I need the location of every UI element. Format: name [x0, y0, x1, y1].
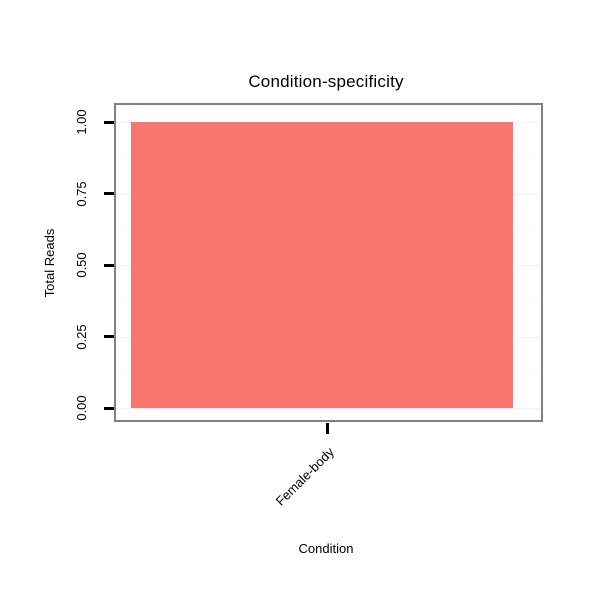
- xtick-mark-female-body: [326, 423, 329, 434]
- ytick-label-0_25: 0.25: [74, 317, 90, 357]
- plot-panel: [114, 103, 543, 422]
- ytick-mark-0_00: [104, 407, 114, 410]
- bar-female-body[interactable]: [131, 122, 513, 408]
- ytick-mark-1_00: [104, 121, 114, 124]
- xtick-label-female-body: Female-body: [249, 444, 338, 533]
- ytick-label-0_50: 0.50: [74, 245, 90, 285]
- ytick-label-1_00: 1.00: [74, 102, 90, 142]
- y-axis-title: Total Reads: [42, 208, 58, 318]
- gridline-major-0_00: [116, 408, 541, 409]
- ytick-mark-0_50: [104, 264, 114, 267]
- ytick-mark-0_25: [104, 335, 114, 338]
- chart-root: Condition-specificity 1.00 0.75 0.50 0.2…: [0, 0, 600, 600]
- x-axis-title: Condition: [216, 541, 436, 556]
- chart-title: Condition-specificity: [0, 72, 600, 92]
- ytick-label-0_00: 0.00: [74, 388, 90, 428]
- ytick-label-0_75: 0.75: [74, 174, 90, 214]
- ytick-mark-0_75: [104, 192, 114, 195]
- panel-background: [116, 105, 541, 420]
